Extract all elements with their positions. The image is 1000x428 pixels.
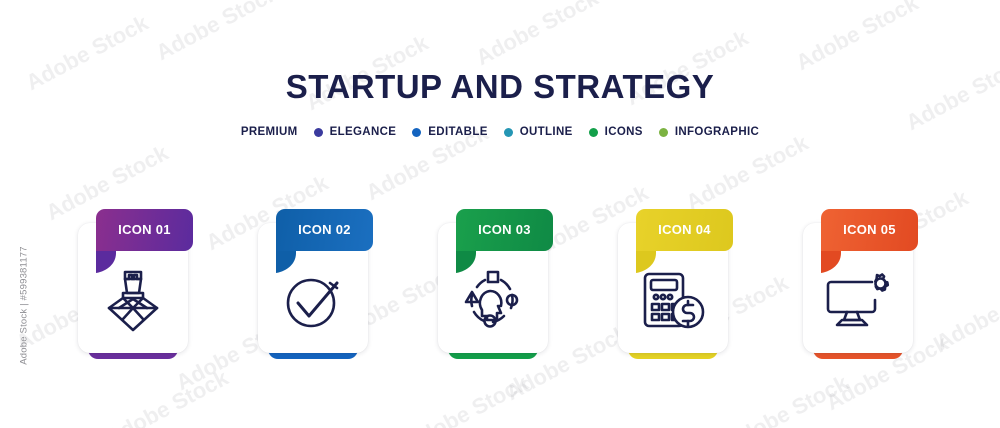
icon-card[interactable]: ICON 01 — [78, 207, 188, 359]
legend-dot-icon — [659, 128, 668, 137]
card-ribbon[interactable]: ICON 05 — [821, 209, 918, 251]
legend-item-outline: OUTLINE — [504, 126, 573, 138]
page-title: STARTUP AND STRATEGY — [0, 68, 1000, 106]
legend-dot-icon — [412, 128, 421, 137]
legend-item-premium: PREMIUM — [241, 126, 298, 138]
card-ribbon[interactable]: ICON 02 — [276, 209, 373, 251]
legend-item-label: OUTLINE — [520, 126, 573, 138]
watermark-text: Adobe Stock — [682, 130, 813, 216]
card-ribbon[interactable]: ICON 04 — [636, 209, 733, 251]
legend-dot-icon — [504, 128, 513, 137]
infographic-canvas: Adobe StockAdobe StockAdobe StockAdobe S… — [0, 0, 1000, 428]
legend-item-label: ELEGANCE — [330, 126, 397, 138]
legend-item-icons: ICONS — [589, 126, 643, 138]
watermark-text: Adobe Stock — [402, 370, 533, 428]
calculator-dollar-icon — [618, 265, 728, 337]
legend-item-label: ICONS — [605, 126, 643, 138]
card-ribbon-label: ICON 03 — [478, 222, 531, 237]
card-ribbon-label: ICON 01 — [118, 222, 171, 237]
head-shapes-thinking-icon — [438, 265, 548, 337]
watermark-text: Adobe Stock — [722, 370, 853, 428]
legend-item-elegance: ELEGANCE — [314, 126, 397, 138]
watermark-text: Adobe Stock — [792, 0, 923, 76]
watermark-text: Adobe Stock — [102, 365, 233, 428]
icon-card[interactable]: ICON 05 — [803, 207, 913, 359]
check-circle-icon — [258, 265, 368, 337]
legend-item-label: EDITABLE — [428, 126, 487, 138]
card-ribbon[interactable]: ICON 01 — [96, 209, 193, 251]
card-ribbon-label: ICON 04 — [658, 222, 711, 237]
legend: PREMIUMELEGANCEEDITABLEOUTLINEICONSINFOG… — [0, 126, 1000, 138]
watermark-text: Adobe Stock — [152, 0, 283, 66]
card-ribbon-label: ICON 05 — [843, 222, 896, 237]
legend-item-infographic: INFOGRAPHIC — [659, 126, 759, 138]
legend-dot-icon — [314, 128, 323, 137]
icon-card[interactable]: ICON 03 — [438, 207, 548, 359]
icon-card[interactable]: ICON 04 — [618, 207, 728, 359]
monitor-gear-icon — [803, 265, 913, 337]
legend-item-label: INFOGRAPHIC — [675, 126, 759, 138]
card-ribbon-label: ICON 02 — [298, 222, 351, 237]
legend-item-label: PREMIUM — [241, 126, 298, 138]
icon-card-list: ICON 01ICON 02ICON 03ICON 04ICON 05 — [0, 207, 1000, 367]
icon-card[interactable]: ICON 02 — [258, 207, 368, 359]
card-ribbon[interactable]: ICON 03 — [456, 209, 553, 251]
legend-item-editable: EDITABLE — [412, 126, 487, 138]
chess-rook-diamond-icon — [78, 265, 188, 337]
watermark-text: Adobe Stock — [472, 0, 603, 71]
legend-dot-icon — [589, 128, 598, 137]
